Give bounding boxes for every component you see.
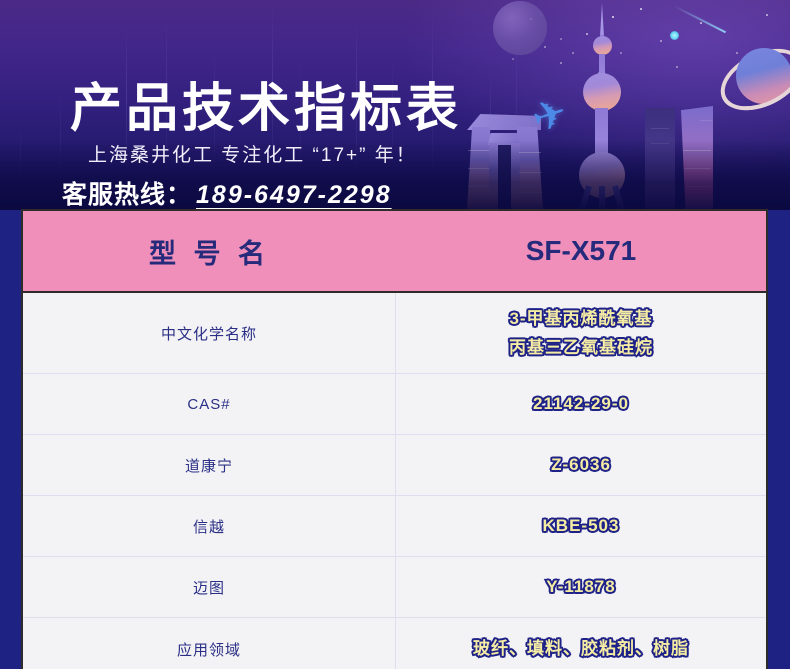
row-label: 中文化学名称 [23,293,396,373]
row-value: Z-6036 [396,435,766,495]
product-spec-page: ✈ 产品技术指标表 上海桑井化工 专注化工 “17+” 年！ 客服热线：189-… [0,0,790,669]
row-value-line: KBE-503 [543,515,620,536]
row-value-line: Y-11878 [546,576,615,597]
row-label: 应用领域 [23,618,396,669]
row-value: KBE-503 [396,496,766,556]
table-row: 应用领域 玻纤、填料、胶粘剂、树脂 [23,618,766,669]
table-row: 中文化学名称 3-甲基丙烯酰氧基 丙基三乙氧基硅烷 [23,293,766,374]
hotline-number: 189-6497-2298 [192,181,392,209]
spec-table: 型 号 名 SF-X571 中文化学名称 3-甲基丙烯酰氧基 丙基三乙氧基硅烷 … [21,209,768,669]
row-value: Y-11878 [396,557,766,617]
row-label: 迈图 [23,557,396,617]
row-value-line: 3-甲基丙烯酰氧基 [509,308,652,329]
row-value: 21142-29-0 [396,374,766,434]
row-value-line: 21142-29-0 [533,393,629,414]
hotline-label: 客服热线： [62,181,192,209]
hero-banner: ✈ 产品技术指标表 上海桑井化工 专注化工 “17+” 年！ 客服热线：189-… [0,0,790,210]
hero-text-block: 产品技术指标表 上海桑井化工 专注化工 “17+” 年！ 客服热线：189-64… [0,0,790,210]
row-label: 道康宁 [23,435,396,495]
row-label: CAS# [23,374,396,434]
row-value-line: 丙基三乙氧基硅烷 [509,337,653,358]
row-value: 3-甲基丙烯酰氧基 丙基三乙氧基硅烷 [396,293,766,373]
hero-subtitle: 上海桑井化工 专注化工 “17+” 年！ [88,140,417,167]
table-header-label: 型 号 名 [23,211,396,291]
table-row: 迈图 Y-11878 [23,557,766,618]
table-header-row: 型 号 名 SF-X571 [23,211,766,293]
row-value: 玻纤、填料、胶粘剂、树脂 [396,618,766,669]
table-row: 道康宁 Z-6036 [23,435,766,496]
page-title: 产品技术指标表 [70,66,462,141]
row-label: 信越 [23,496,396,556]
table-row: 信越 KBE-503 [23,496,766,557]
row-value-line: 玻纤、填料、胶粘剂、树脂 [473,638,689,659]
hotline: 客服热线：189-6497-2298 [62,175,392,210]
table-header-value: SF-X571 [396,211,766,291]
table-row: CAS# 21142-29-0 [23,374,766,435]
row-value-line: Z-6036 [551,454,611,475]
